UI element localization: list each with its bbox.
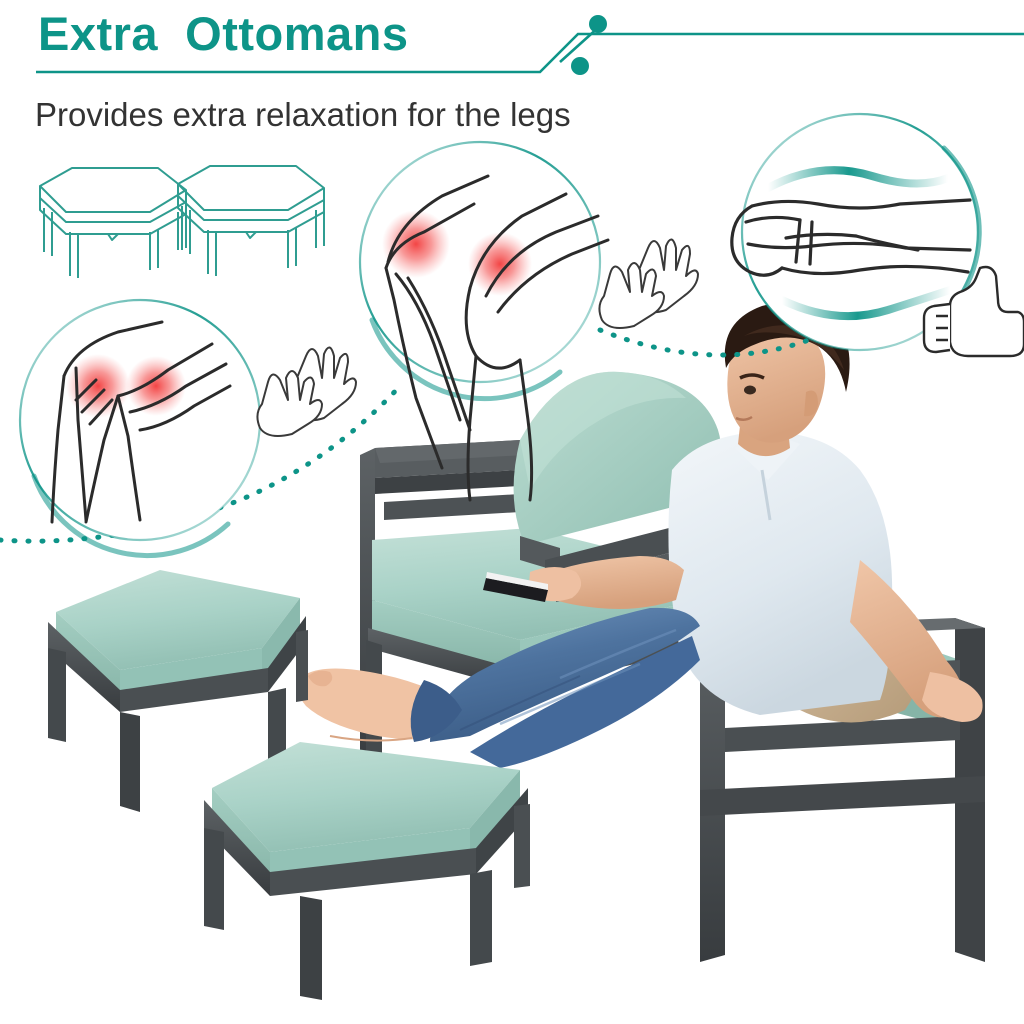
- open-hands-icon-left: [257, 347, 356, 436]
- circle-knee-pain-lower: [20, 300, 260, 555]
- ottoman-line-icon: [40, 168, 186, 278]
- page-title: Extra Ottomans: [38, 6, 409, 61]
- illustration-layer: [0, 0, 1024, 1024]
- decoration-dot: [571, 57, 589, 75]
- infographic-canvas: Extra Ottomans Provides extra relaxation…: [0, 0, 1024, 1024]
- pain-indicator: [382, 210, 450, 278]
- page-subtitle: Provides extra relaxation for the legs: [35, 96, 571, 134]
- circle-knee-pain-upper: [360, 142, 608, 500]
- decoration-dot: [589, 15, 607, 33]
- ottoman-line-icon: [178, 166, 324, 276]
- open-hands-icon-mid: [599, 239, 698, 328]
- ottoman-line-icon-group: [40, 166, 324, 278]
